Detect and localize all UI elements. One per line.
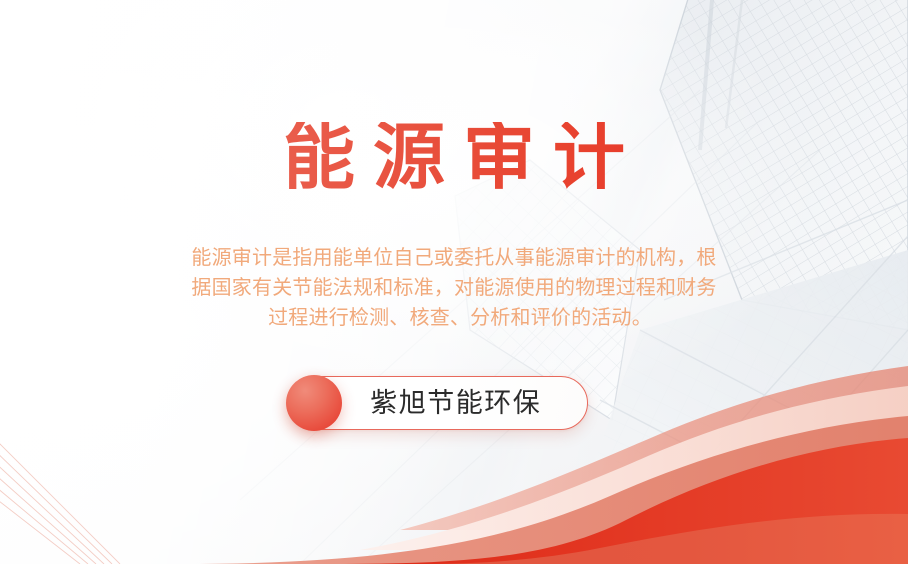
subtitle-line-3: 过程进行检测、核查、分析和评价的活动。 — [171, 303, 737, 333]
subtitle-line-2: 据国家有关节能法规和标准，对能源使用的物理过程和财务 — [171, 273, 737, 303]
brand-button-label: 紫旭节能环保 — [335, 390, 542, 417]
brand-button[interactable]: 紫旭节能环保 — [286, 374, 590, 432]
page-title: 能源审计 — [0, 122, 908, 194]
energy-audit-banner: 能源审计 能源审计是指用能单位自己或委托从事能源审计的机构，根 据国家有关节能法… — [0, 0, 908, 564]
circle-dot-icon — [286, 375, 342, 431]
subtitle-paragraph: 能源审计是指用能单位自己或委托从事能源审计的机构，根 据国家有关节能法规和标准，… — [171, 243, 737, 333]
subtitle-line-1: 能源审计是指用能单位自己或委托从事能源审计的机构，根 — [171, 243, 737, 273]
banner-content: 能源审计 能源审计是指用能单位自己或委托从事能源审计的机构，根 据国家有关节能法… — [0, 0, 908, 564]
